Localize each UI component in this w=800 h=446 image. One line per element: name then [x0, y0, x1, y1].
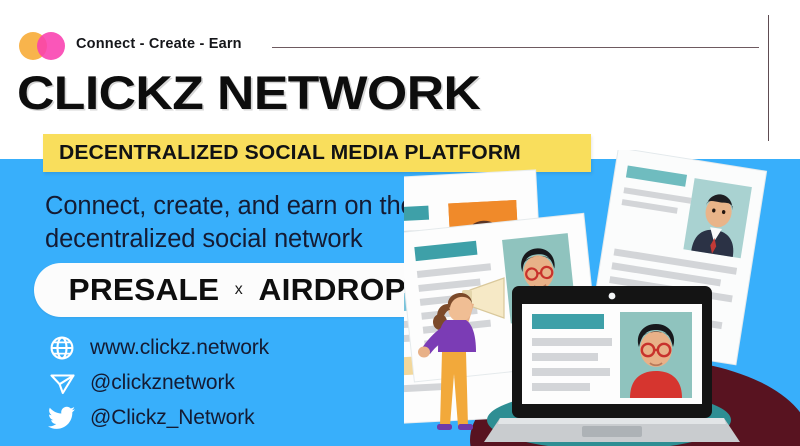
laptop-with-profile-page [484, 286, 740, 446]
logo-circle-right [37, 32, 65, 60]
tagline: Connect - Create - Earn [76, 36, 242, 52]
header-vertical-rule [768, 15, 769, 141]
social-link-telegram-label: @clickznetwork [90, 371, 235, 395]
social-link-twitter[interactable]: @Clickz_Network [47, 400, 269, 435]
social-link-website-label: www.clickz.network [90, 336, 269, 360]
two-overlapping-circles-logo [19, 32, 71, 60]
social-links: www.clickz.network @clickznetwork @Click… [47, 330, 269, 435]
header-horizontal-rule [272, 47, 759, 48]
twitter-icon [47, 403, 77, 433]
social-link-telegram[interactable]: @clickznetwork [47, 365, 269, 400]
social-link-twitter-label: @Clickz_Network [90, 406, 255, 430]
profiles-laptop-megaphone-illustration [404, 150, 800, 446]
presale-airdrop-pill[interactable]: PRESALE x AIRDROP [34, 263, 440, 317]
airdrop-label: AIRDROP [258, 272, 405, 308]
globe-icon [47, 333, 77, 363]
poster-canvas: Connect - Create - Earn CLICKZ NETWORK D… [0, 0, 800, 446]
page-title: CLICKZ NETWORK [17, 69, 480, 116]
pill-separator: x [235, 281, 243, 299]
telegram-icon [47, 368, 77, 398]
presale-label: PRESALE [68, 272, 219, 308]
social-link-website[interactable]: www.clickz.network [47, 330, 269, 365]
